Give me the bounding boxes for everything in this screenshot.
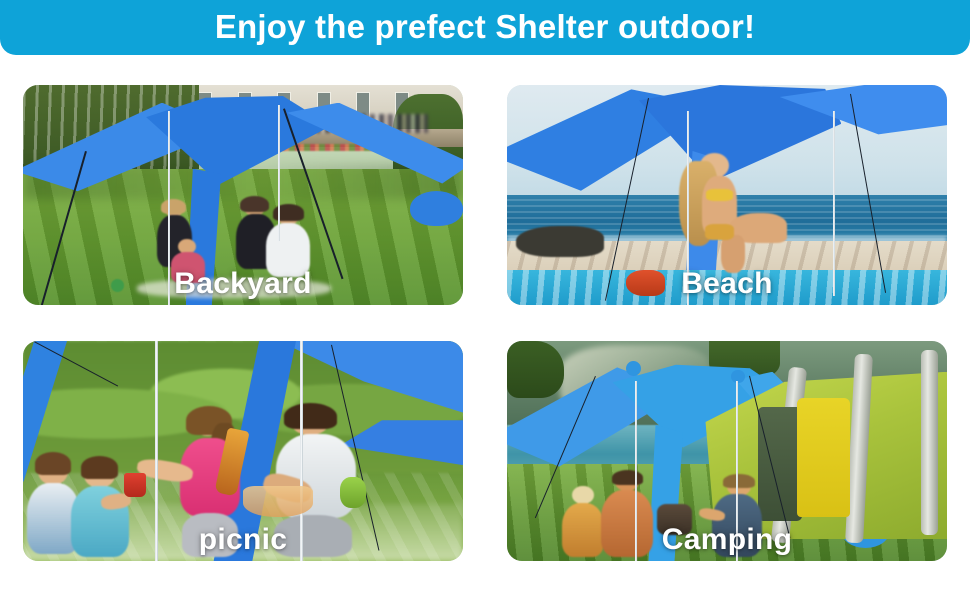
person-child <box>168 239 208 283</box>
product-feature-banner: Enjoy the prefect Shelter outdoor! <box>0 0 970 600</box>
person-camper-right <box>709 477 766 556</box>
beach-photo <box>507 85 947 305</box>
support-pole-left <box>155 341 158 561</box>
support-pole-left <box>687 111 689 305</box>
support-pole-left <box>168 111 170 305</box>
use-case-grid: Backyard <box>23 85 947 561</box>
use-case-card-backyard[interactable]: Backyard <box>23 85 463 305</box>
support-pole-right <box>278 105 280 241</box>
support-pole-right <box>736 381 738 561</box>
food-bowl <box>243 486 313 517</box>
backyard-photo <box>23 85 463 305</box>
canopy-finial-right <box>731 370 744 383</box>
person-adult-right <box>265 208 313 283</box>
tent-door-panel <box>797 398 850 517</box>
person-camper-center <box>599 473 656 557</box>
picnic-photo <box>23 341 463 561</box>
header-bar: Enjoy the prefect Shelter outdoor! <box>0 0 970 55</box>
camping-photo <box>507 341 947 561</box>
tent-beam-rear <box>921 350 939 535</box>
beach-bag <box>626 270 666 296</box>
support-pole-right <box>300 341 303 561</box>
person-child-right <box>71 462 128 557</box>
use-case-card-picnic[interactable]: picnic <box>23 341 463 561</box>
canopy-foot-right <box>410 191 463 226</box>
beach-rock <box>516 226 604 257</box>
camp-bag <box>657 504 692 535</box>
support-pole-right <box>833 111 835 296</box>
person-woman-sitting <box>665 153 797 289</box>
use-case-card-camping[interactable]: Camping <box>507 341 947 561</box>
ball-toy <box>111 279 124 292</box>
green-bottle <box>340 477 366 508</box>
support-pole-left <box>635 381 637 561</box>
red-cup <box>124 473 146 497</box>
use-case-card-beach[interactable]: Beach <box>507 85 947 305</box>
tree-left <box>507 341 564 398</box>
page-title: Enjoy the prefect Shelter outdoor! <box>215 10 755 43</box>
